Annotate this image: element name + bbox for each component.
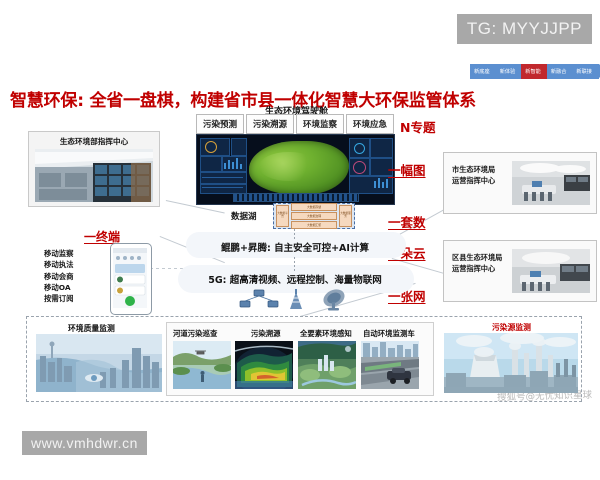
tab-pollution-forecast[interactable]: 污染预测 bbox=[196, 114, 244, 134]
gauge-icon bbox=[354, 143, 365, 154]
bar-mark bbox=[240, 164, 242, 169]
mobile-feature-list: 移动监察 移动执法 移动会商 移动OA 按需订阅 bbox=[44, 248, 74, 304]
bar-mark bbox=[228, 160, 230, 169]
ministry-command-center-card: 生态环境部指挥中心 bbox=[28, 131, 160, 207]
label-one-data: 一套数 bbox=[388, 212, 426, 231]
network-topology-icon bbox=[240, 290, 278, 307]
data-lake-right-block: 大数据服务 bbox=[339, 205, 352, 227]
caption-environment-quality-monitoring: 环境质量监测 bbox=[68, 323, 115, 334]
dashboard-widget bbox=[231, 138, 247, 156]
bar-mark bbox=[386, 179, 388, 188]
photo-environment-quality-monitoring bbox=[36, 334, 162, 392]
stage-arrow-1: 新体验 bbox=[496, 64, 523, 79]
photo-pollution-source-monitoring bbox=[444, 333, 578, 393]
mobile-phone-mockup[interactable] bbox=[110, 243, 152, 315]
city-command-center-photo bbox=[512, 161, 590, 205]
slide-canvas: TG: MYYJJPP www.vmhdwr.cn 搜狐号@无忧知识星球 新底座… bbox=[0, 0, 600, 480]
photo-pollution-tracing bbox=[235, 341, 293, 389]
data-lake-row: 大数据汇聚 bbox=[291, 221, 337, 228]
province-terrain-map bbox=[249, 141, 349, 195]
connector-vertical bbox=[294, 257, 295, 271]
caption-pollution-tracing: 污染溯源 bbox=[251, 328, 281, 339]
cockpit-tabs: 污染预测 污染溯源 环境监察 环境应急 bbox=[196, 114, 394, 134]
stage-arrow-0: 新底座 bbox=[470, 64, 497, 79]
county-command-center-text: 区县生态环境局 运营指挥中心 bbox=[452, 253, 502, 275]
caption-river-pollution-patrol: 河道污染巡查 bbox=[173, 328, 217, 339]
compute-layer-text: 鲲鹏+昇腾: 自主安全可控+AI计算 bbox=[183, 240, 407, 254]
network-icon-row bbox=[238, 288, 358, 312]
tab-environment-inspection[interactable]: 环境监察 bbox=[296, 114, 344, 134]
ministry-command-center-photo bbox=[35, 149, 153, 202]
data-lake-row: 大数据治理 bbox=[291, 212, 337, 219]
county-command-center-card: 区县生态环境局 运营指挥中心 bbox=[443, 240, 597, 302]
data-lake-label: 数据湖 bbox=[231, 210, 257, 222]
sensing-photo-group: 河道污染巡查 污染溯源 全要素环境感知 自动环境监测车 bbox=[166, 322, 434, 396]
caption-full-element-sensing: 全要素环境感知 bbox=[300, 328, 352, 339]
mobile-item-3: 移动OA bbox=[44, 282, 74, 293]
mobile-item-1: 移动执法 bbox=[44, 259, 74, 270]
tab-pollution-tracing[interactable]: 污染溯源 bbox=[246, 114, 294, 134]
bar-mark bbox=[382, 182, 384, 188]
city-command-center-text: 市生态环境局 运营指挥中心 bbox=[452, 165, 495, 187]
ministry-command-center-title: 生态环境部指挥中心 bbox=[29, 136, 159, 147]
city-center-line2: 运营指挥中心 bbox=[452, 176, 495, 187]
stage-arrow-3: 新融合 bbox=[547, 64, 574, 79]
county-center-line2: 运营指挥中心 bbox=[452, 264, 502, 275]
trend-line bbox=[202, 177, 243, 178]
bar-mark bbox=[378, 178, 380, 188]
bar-mark bbox=[232, 162, 234, 169]
data-lake-left-block: 大数据平台 bbox=[276, 205, 289, 227]
phone-screen bbox=[113, 248, 147, 308]
photo-full-element-sensing bbox=[298, 341, 356, 389]
eco-cockpit-dashboard[interactable] bbox=[196, 134, 395, 205]
tab-environment-emergency[interactable]: 环境应急 bbox=[346, 114, 394, 134]
telegram-watermark: TG: MYYJJPP bbox=[457, 14, 592, 44]
dashboard-timeline bbox=[233, 193, 359, 202]
cell-tower-icon bbox=[290, 289, 302, 309]
county-command-center-photo bbox=[512, 249, 590, 293]
satellite-dish-icon bbox=[321, 288, 348, 311]
dashboard-widget bbox=[200, 172, 247, 184]
network-layer-text: 5G: 超高清视频、远程控制、海量物联网 bbox=[178, 272, 412, 286]
data-lake-row: 大数据存储 bbox=[291, 203, 337, 210]
mobile-item-4: 按需订阅 bbox=[44, 293, 74, 304]
site-watermark: www.vmhdwr.cn bbox=[22, 431, 147, 455]
city-center-line1: 市生态环境局 bbox=[452, 165, 495, 176]
photo-auto-monitoring-vehicle bbox=[361, 341, 419, 389]
bar-mark bbox=[374, 181, 376, 188]
stage-arrow-4: 新联接 bbox=[572, 64, 599, 79]
mobile-item-0: 移动监察 bbox=[44, 248, 74, 259]
caption-pollution-source-monitoring: 污染源监测 bbox=[492, 322, 531, 333]
caption-auto-monitoring-vehicle: 自动环境监测车 bbox=[363, 328, 415, 339]
page-title: 智慧环保: 全省一盘棋，构建省市县一体化智慧大环保监管体系 bbox=[10, 86, 476, 111]
bar-mark bbox=[236, 158, 238, 169]
gauge-icon bbox=[353, 161, 366, 174]
city-command-center-card: 市生态环境局 运营指挥中心 bbox=[443, 152, 597, 214]
stage-arrow-strip: 新底座 新体验 新智能 新融合 新联接 bbox=[470, 64, 595, 79]
data-lake-rows: 大数据存储 大数据治理 大数据汇聚 bbox=[291, 203, 337, 228]
mobile-item-2: 移动会商 bbox=[44, 271, 74, 282]
data-lake-box: 大数据平台 大数据存储 大数据治理 大数据汇聚 大数据服务 bbox=[273, 203, 355, 229]
stage-arrow-2: 新智能 bbox=[521, 64, 548, 79]
bar-mark bbox=[224, 163, 226, 169]
connector-vertical bbox=[294, 229, 295, 239]
photo-river-pollution-patrol bbox=[173, 341, 231, 389]
dashboard-widget bbox=[200, 156, 222, 172]
dashboard-widget bbox=[370, 138, 393, 158]
trend-line bbox=[202, 187, 243, 188]
label-one-map: 一幅图 bbox=[388, 160, 426, 179]
label-n-topics: N专题 bbox=[400, 117, 435, 136]
gauge-icon bbox=[205, 141, 217, 153]
county-center-line1: 区县生态环境局 bbox=[452, 253, 502, 264]
